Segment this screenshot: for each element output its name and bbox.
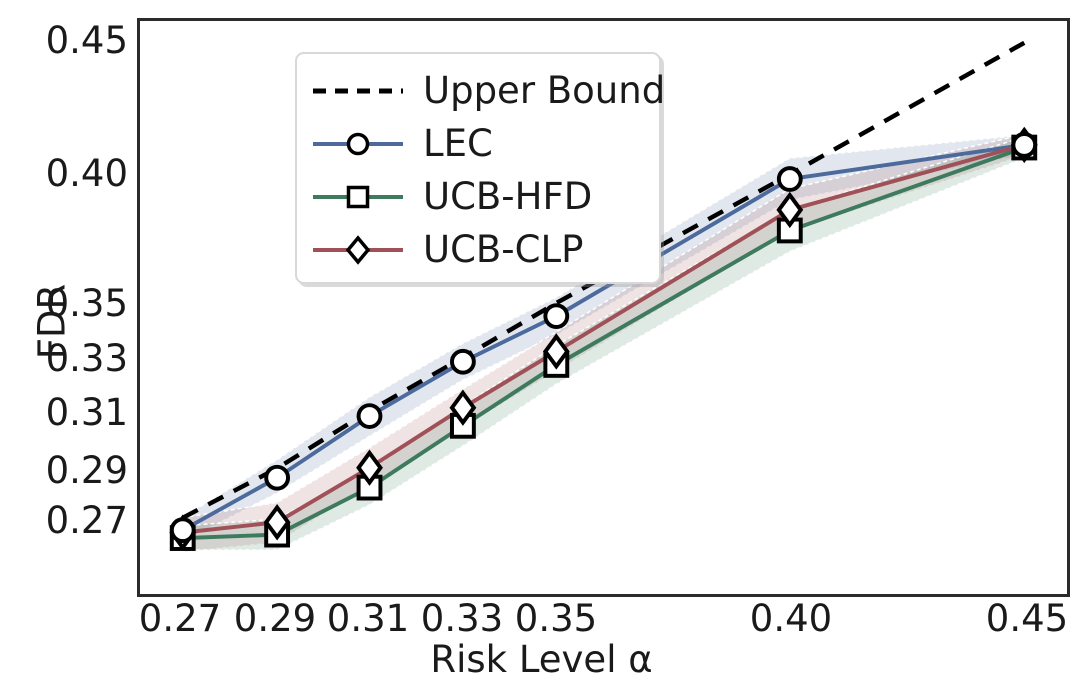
data-point-marker bbox=[1013, 134, 1035, 156]
legend-item-ucb-clp[interactable]: UCB-CLP bbox=[297, 223, 659, 276]
legend-label-ucb-hfd: UCB-HFD bbox=[423, 178, 592, 215]
y-axis-label: FDR bbox=[31, 222, 74, 422]
x-tick-label-5: 0.40 bbox=[726, 600, 856, 637]
legend-swatch-circle-line-icon bbox=[311, 129, 405, 159]
y-tick-label-1: 0.40 bbox=[18, 155, 128, 192]
x-axis-label: Risk Level α bbox=[0, 638, 1083, 681]
legend-label-upper-bound: Upper Bound bbox=[423, 72, 665, 109]
data-point-marker bbox=[452, 351, 474, 373]
y-tick-label-5: 0.29 bbox=[18, 452, 128, 489]
data-point-marker bbox=[172, 519, 194, 541]
legend-item-lec[interactable]: LEC bbox=[297, 117, 659, 170]
legend-swatch-dashed-line-icon bbox=[311, 76, 405, 106]
legend-item-ucb-hfd[interactable]: UCB-HFD bbox=[297, 170, 659, 223]
data-point-marker bbox=[359, 405, 381, 427]
y-tick-label-6: 0.27 bbox=[18, 502, 128, 539]
legend-swatch-square-line-icon bbox=[311, 182, 405, 212]
plot-area: Upper Bound LEC UCB-HF bbox=[137, 18, 1070, 597]
legend-label-ucb-clp: UCB-CLP bbox=[423, 231, 583, 268]
legend-item-upper-bound[interactable]: Upper Bound bbox=[297, 64, 659, 117]
data-point-marker bbox=[779, 168, 801, 190]
x-tick-label-4: 0.35 bbox=[491, 600, 621, 637]
data-point-marker bbox=[266, 467, 288, 489]
figure-canvas: 0.45 0.40 0.35 0.33 0.31 0.29 0.27 FDR bbox=[0, 0, 1083, 692]
chart-legend: Upper Bound LEC UCB-HF bbox=[295, 52, 661, 284]
legend-label-lec: LEC bbox=[423, 125, 493, 162]
y-tick-label-0: 0.45 bbox=[18, 22, 128, 59]
legend-swatch-diamond-line-icon bbox=[311, 235, 405, 265]
data-point-marker bbox=[545, 305, 567, 327]
x-tick-label-6: 0.45 bbox=[962, 600, 1083, 637]
